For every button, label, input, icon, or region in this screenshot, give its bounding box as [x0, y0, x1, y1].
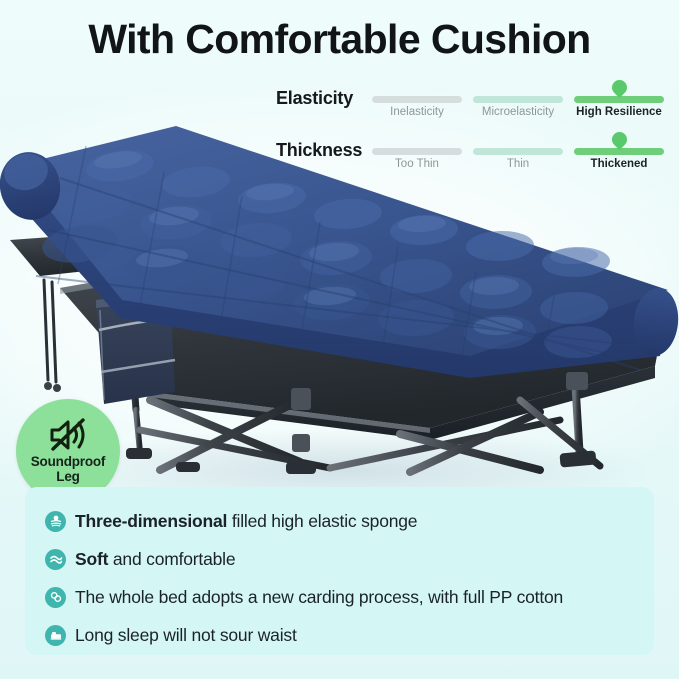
sponge-layers-icon — [45, 511, 66, 532]
scale-track-elasticity: Inelasticity Microelasticity High Resili… — [372, 86, 672, 126]
scale-seglabel-inelasticity: Inelasticity — [359, 106, 475, 118]
soft-cotton-icon — [45, 549, 66, 570]
badge-label: Soundproof Leg — [31, 454, 105, 484]
scale-seglabel-thin: Thin — [460, 158, 576, 170]
carding-process-icon — [45, 587, 66, 608]
page-title: With Comfortable Cushion — [0, 16, 679, 63]
feature-text: Soft and comfortable — [75, 549, 235, 570]
feature-item: The whole bed adopts a new carding proce… — [45, 579, 654, 615]
feature-rest: and comfortable — [108, 549, 235, 569]
scale-row-elasticity: Elasticity Inelasticity Microelasticity … — [276, 86, 672, 130]
rating-scales: Elasticity Inelasticity Microelasticity … — [276, 86, 672, 182]
badge-label-line2: Leg — [56, 469, 79, 484]
scale-segment-microelasticity — [473, 96, 563, 103]
scale-segment-too-thin — [372, 148, 462, 155]
speaker-mute-icon — [48, 418, 88, 452]
scale-row-thickness: Thickness Too Thin Thin Thickened — [276, 138, 672, 182]
badge-label-line1: Soundproof — [31, 454, 105, 469]
scale-seglabel-microelasticity: Microelasticity — [460, 106, 576, 118]
scale-segment-thin — [473, 148, 563, 155]
scale-segment-inelasticity — [372, 96, 462, 103]
feature-rest: The whole bed adopts a new carding proce… — [75, 587, 563, 607]
scale-label-elasticity: Elasticity — [276, 88, 368, 109]
infographic-page: With Comfortable Cushion — [0, 0, 679, 679]
scale-seglabel-thickened: Thickened — [561, 158, 677, 170]
scale-marker-pin-elasticity — [612, 80, 627, 99]
feature-item: Long sleep will not sour waist — [45, 617, 654, 653]
feature-emphasis: Soft — [75, 549, 108, 569]
feature-rest: filled high elastic sponge — [227, 511, 417, 531]
scale-track-thickness: Too Thin Thin Thickened — [372, 138, 672, 178]
feature-item: Soft and comfortable — [45, 541, 654, 577]
feature-text: Three-dimensional filled high elastic sp… — [75, 511, 417, 532]
feature-text: Long sleep will not sour waist — [75, 625, 297, 646]
scale-label-thickness: Thickness — [276, 140, 368, 161]
feature-panel: Three-dimensional filled high elastic sp… — [25, 487, 654, 655]
feature-item: Three-dimensional filled high elastic sp… — [45, 503, 654, 539]
feature-emphasis: Three-dimensional — [75, 511, 227, 531]
feature-text: The whole bed adopts a new carding proce… — [75, 587, 563, 608]
scale-marker-pin-thickness — [612, 132, 627, 151]
bed-rest-icon — [45, 625, 66, 646]
scale-seglabel-high-resilience: High Resilience — [561, 106, 677, 118]
scale-seglabel-too-thin: Too Thin — [359, 158, 475, 170]
feature-rest: Long sleep will not sour waist — [75, 625, 297, 645]
